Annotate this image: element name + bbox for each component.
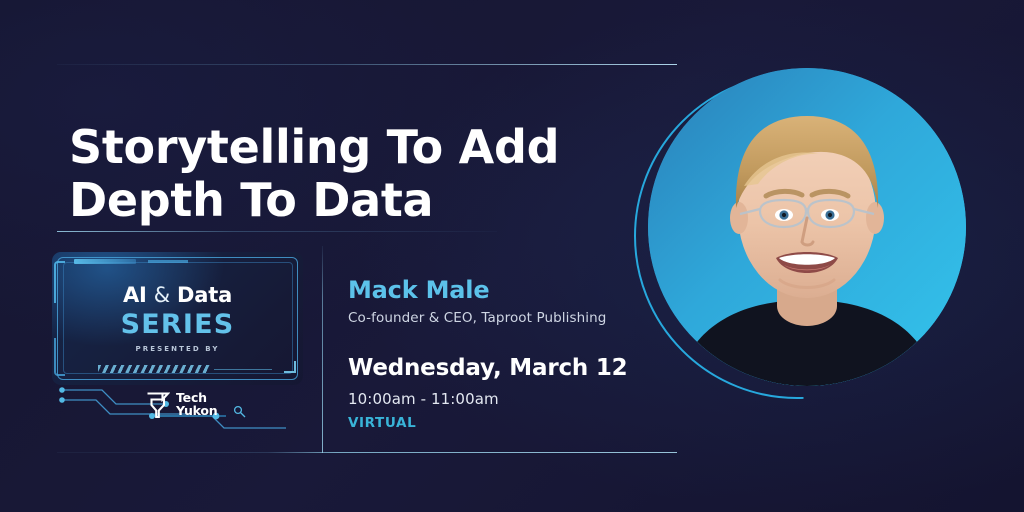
headline-line-2: Depth To Data [69,174,649,227]
badge-presented-by-label: PRESENTED BY [52,345,303,353]
event-time: 10:00am - 11:00am [348,390,648,408]
badge-title-data: Data [177,283,232,307]
badge-notch-secondary [148,260,188,263]
badge-notch-primary [74,259,136,264]
badge-title: AI & Data [52,283,303,307]
page-title: Storytelling To Add Depth To Data [69,121,649,228]
event-promo-banner: Storytelling To Add Depth To Data AI & D… [0,0,1024,512]
divider-line-top [57,64,677,65]
divider-line-bottom [57,452,677,453]
badge-title-ai: AI [123,283,147,307]
speaker-portrait [648,68,966,386]
badge-hash-line [214,369,272,370]
tech-yukon-logo-icon [146,391,170,419]
event-date: Wednesday, March 12 [348,355,648,381]
badge-corner-bottom-left [54,338,65,376]
badge-title-ampersand: & [154,283,170,307]
sponsor-name-line-2: Yukon [176,405,218,418]
speaker-name: Mack Male [348,277,648,303]
speaker-portrait-illustration [648,68,966,386]
sponsor-logo-text: Tech Yukon [176,392,218,418]
divider-line-middle [57,231,497,232]
event-mode-badge: VIRTUAL [348,415,648,431]
sponsor-logo: Tech Yukon [146,391,218,419]
speaker-info: Mack Male Co-founder & CEO, Taproot Publ… [348,277,648,431]
speaker-role: Co-founder & CEO, Taproot Publishing [348,310,648,326]
badge-subtitle: SERIES [52,309,303,340]
headline-line-1: Storytelling To Add [69,120,559,174]
series-badge: AI & Data SERIES PRESENTED BY [52,252,303,385]
